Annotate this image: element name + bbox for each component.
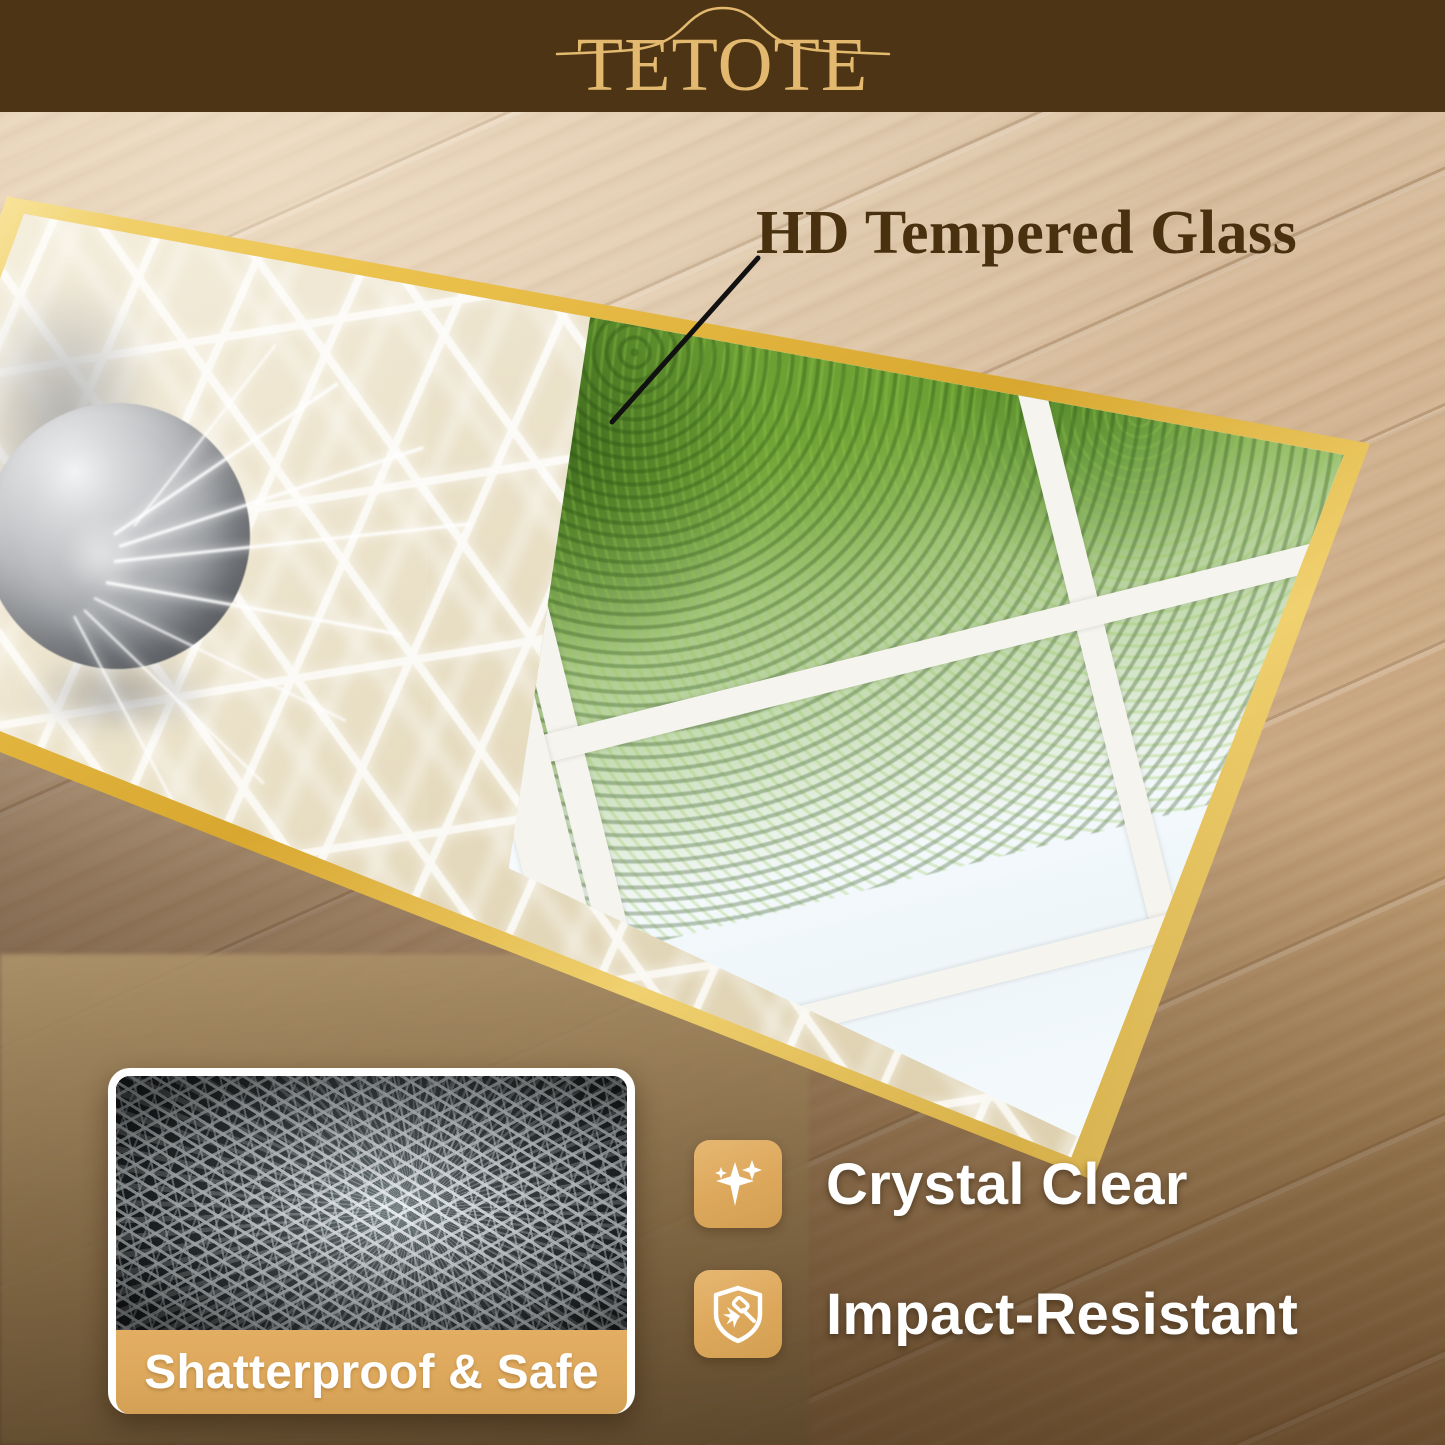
brand-header-bar: TETOTE (0, 0, 1445, 112)
brand-logo: TETOTE (553, 6, 893, 110)
inset-caption-label: Shatterproof & Safe (144, 1345, 599, 1400)
shield-hammer-icon (707, 1283, 769, 1345)
feature-item-impact-resistant: Impact-Resistant (694, 1270, 1298, 1358)
feature-badge-crystal-clear (694, 1140, 782, 1228)
product-marketing-image: HD Tempered Glass TETOTE Shatterproof & … (0, 0, 1445, 1445)
page-title: HD Tempered Glass (756, 198, 1297, 268)
callout-leader-line (590, 250, 770, 440)
shattered-glass-vignette (116, 1076, 627, 1330)
shatterproof-inset-card: Shatterproof & Safe (108, 1068, 635, 1414)
shattered-glass-icon (116, 1076, 627, 1330)
feature-list: Crystal Clear Impact-Resistant (694, 1140, 1298, 1400)
brand-name: TETOTE (553, 24, 893, 106)
sparkle-icon (708, 1154, 768, 1214)
feature-label-impact-resistant: Impact-Resistant (826, 1281, 1298, 1348)
feature-item-crystal-clear: Crystal Clear (694, 1140, 1298, 1228)
feature-badge-impact-resistant (694, 1270, 782, 1358)
feature-label-crystal-clear: Crystal Clear (826, 1151, 1188, 1218)
inset-caption-bar: Shatterproof & Safe (116, 1330, 627, 1414)
